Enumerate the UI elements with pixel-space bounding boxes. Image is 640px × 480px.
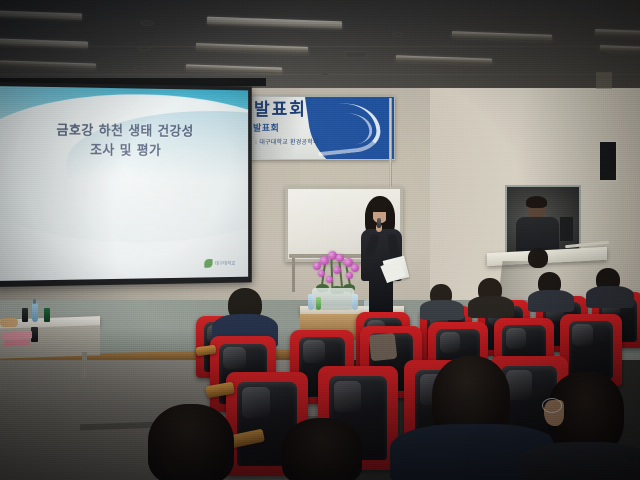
audience-shoulders (420, 300, 464, 320)
audience-shoulders (468, 296, 514, 318)
audience-head (528, 248, 548, 268)
beverage-can (44, 308, 50, 322)
orchid-bloom (313, 262, 321, 270)
alcove-speaker (560, 217, 573, 241)
presenter-trousers (369, 278, 393, 316)
orchid-bloom (318, 270, 325, 277)
audience-shoulders-foreground (520, 442, 640, 480)
beverage-can (22, 308, 28, 322)
side-table-leg (82, 352, 87, 378)
water-bottle (352, 294, 358, 310)
audience-head-foreground (282, 418, 362, 480)
banner-shading (248, 97, 394, 159)
person-at-lectern (515, 198, 561, 254)
orchid-bloom (326, 276, 333, 283)
water-bottle (308, 294, 314, 310)
audience-head-foreground (148, 404, 234, 480)
orchid-bloom (333, 266, 341, 274)
whiteboard-leg (292, 258, 295, 292)
audience-shoulders (528, 290, 574, 312)
water-bottle (32, 303, 38, 322)
slide-title-line-1: 금호강 하천 생태 건강성 (0, 120, 248, 142)
slide-logo: 대구대학교 (204, 259, 235, 268)
snack-item (0, 318, 18, 327)
university-logo-icon (204, 259, 212, 268)
slide-title-line-2: 조사 및 평가 (0, 140, 248, 161)
seat-highlight (334, 381, 361, 412)
projection-screen-frame: 금호강 하천 생태 건강성 조사 및 평가 대구대학교 (0, 82, 252, 287)
eyeglasses-icon (542, 398, 562, 413)
beverage-can (31, 327, 38, 342)
orchid-bloom (351, 264, 359, 272)
seat-highlight (440, 332, 460, 353)
bag-on-seat (369, 333, 398, 362)
auditorium-photo: 발표회 발표회 : 대구대학교 환경공학과 금호강 하천 생태 건강성 조사 및… (0, 0, 640, 480)
slide-title: 금호강 하천 생태 건강성 조사 및 평가 (0, 120, 248, 161)
seat-highlight (242, 387, 270, 418)
presenter (359, 196, 405, 314)
audience-shoulders (586, 286, 634, 308)
slide-logo-text: 대구대학교 (215, 260, 235, 266)
seat-highlight (506, 328, 526, 349)
projection-screen: 금호강 하천 생태 건강성 조사 및 평가 대구대학교 (0, 86, 248, 281)
bottle-cap (33, 299, 36, 304)
wall-speaker (598, 140, 618, 182)
seat-highlight (572, 324, 593, 346)
orchid-bloom (346, 272, 353, 279)
event-banner: 발표회 발표회 : 대구대학교 환경공학과 (247, 96, 395, 160)
microphone (377, 218, 381, 228)
wall-patch (596, 72, 612, 89)
lectern-person-hair (526, 196, 547, 208)
orchid-bloom (336, 254, 344, 262)
seat-highlight (303, 340, 325, 362)
seat-highlight (223, 347, 245, 370)
water-bottle (316, 297, 321, 310)
